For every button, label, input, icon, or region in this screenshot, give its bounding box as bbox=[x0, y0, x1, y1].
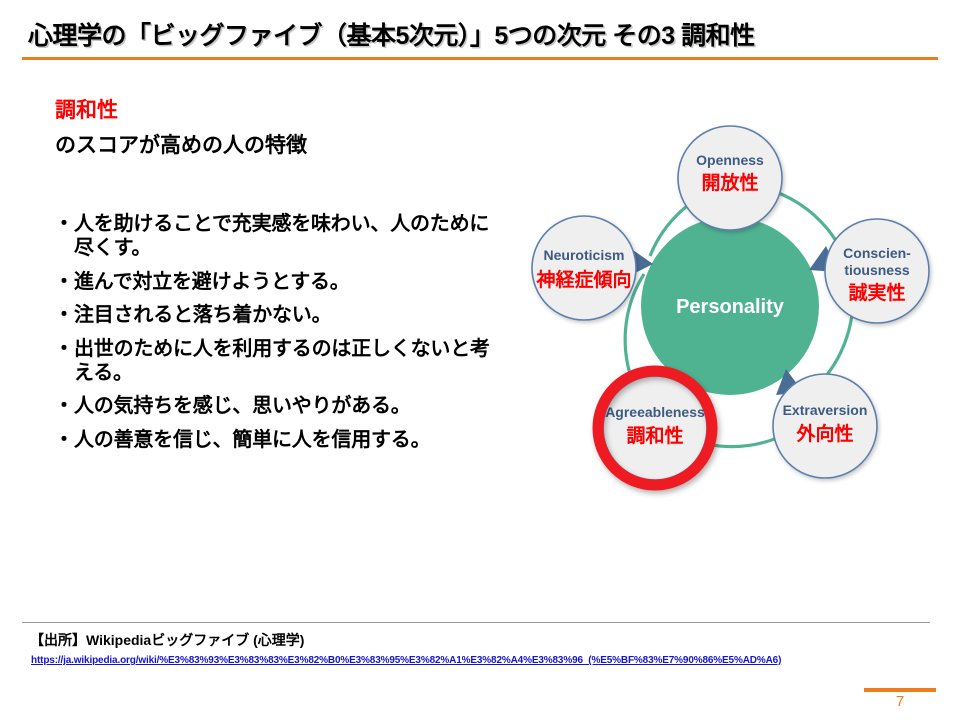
source-url-link[interactable]: https://ja.wikipedia.org/wiki/%E3%83%93%… bbox=[31, 655, 781, 666]
bullet-marker-icon: ・ bbox=[50, 337, 74, 361]
list-item-label: 注目されると落ち着かない。 bbox=[74, 303, 490, 327]
list-item: ・ 人の善意を信じ、簡単に人を信用する。 bbox=[50, 428, 490, 452]
node-extraversion[interactable]: Extraversion 外向性 bbox=[773, 374, 877, 478]
node-openness-jp: 開放性 bbox=[701, 171, 758, 194]
list-item-label: 人の気持ちを感じ、思いやりがある。 bbox=[74, 394, 490, 418]
bullet-marker-icon: ・ bbox=[50, 212, 74, 236]
footer-divider bbox=[22, 622, 930, 623]
node-agreeableness-jp: 調和性 bbox=[626, 424, 683, 447]
source-citation: 【出所】Wikipediaビッグファイブ (心理学) bbox=[30, 630, 304, 650]
list-item-label: 人の善意を信じ、簡単に人を信用する。 bbox=[74, 428, 490, 452]
list-item: ・ 進んで対立を避けようとする。 bbox=[50, 270, 490, 294]
page-number: 7 bbox=[864, 693, 936, 710]
node-conscientiousness-en: Conscien- bbox=[843, 245, 911, 261]
list-item: ・ 注目されると落ち着かない。 bbox=[50, 303, 490, 327]
list-item: ・ 人を助けることで充実感を味わい、人のために尽くす。 bbox=[50, 212, 490, 261]
node-extraversion-jp: 外向性 bbox=[795, 422, 853, 445]
list-item-label: 人を助けることで充実感を味わい、人のために尽くす。 bbox=[74, 212, 490, 261]
node-neuroticism-jp: 神経症傾向 bbox=[535, 268, 631, 291]
node-agreeableness-en: Agreeableness bbox=[605, 404, 705, 420]
node-extraversion-en: Extraversion bbox=[783, 402, 868, 418]
lead-block: 調和性 のスコアが高めの人の特徴 bbox=[55, 98, 475, 160]
node-neuroticism[interactable]: Neuroticism 神経症傾向 bbox=[532, 216, 636, 320]
center-label: Personality bbox=[676, 296, 785, 318]
big-five-diagram: Openness 開放性 Conscien- tiousness 誠実性 Ext… bbox=[498, 78, 960, 518]
characteristics-list: ・ 人を助けることで充実感を味わい、人のために尽くす。 ・ 進んで対立を避けよう… bbox=[50, 212, 490, 461]
bullet-marker-icon: ・ bbox=[50, 394, 74, 418]
page-title: 心理学の「ビッグファイブ（基本5次元）」5つの次元 その3 調和性 bbox=[28, 16, 928, 52]
list-item: ・ 出世のために人を利用するのは正しくないと考える。 bbox=[50, 337, 490, 386]
list-item-label: 進んで対立を避けようとする。 bbox=[74, 270, 490, 294]
node-openness-en: Openness bbox=[696, 152, 764, 168]
node-conscientiousness-jp: 誠実性 bbox=[848, 281, 905, 304]
node-conscientiousness[interactable]: Conscien- tiousness 誠実性 bbox=[825, 219, 929, 323]
slide-canvas: 心理学の「ビッグファイブ（基本5次元）」5つの次元 その3 調和性 調和性 のス… bbox=[0, 0, 960, 720]
node-openness[interactable]: Openness 開放性 bbox=[678, 126, 782, 230]
bullet-marker-icon: ・ bbox=[50, 303, 74, 327]
lead-trait-name: 調和性 bbox=[55, 98, 475, 124]
bullet-marker-icon: ・ bbox=[50, 428, 74, 452]
page-number-bar bbox=[864, 688, 936, 692]
lead-subtitle: のスコアが高めの人の特徴 bbox=[55, 133, 475, 159]
node-conscientiousness-en2: tiousness bbox=[844, 262, 910, 278]
list-item-label: 出世のために人を利用するのは正しくないと考える。 bbox=[74, 337, 490, 386]
node-agreeableness[interactable]: Agreeableness 調和性 bbox=[603, 376, 707, 480]
bullet-marker-icon: ・ bbox=[50, 270, 74, 294]
node-neuroticism-en: Neuroticism bbox=[544, 247, 625, 263]
title-underline-rule bbox=[22, 57, 938, 60]
list-item: ・ 人の気持ちを感じ、思いやりがある。 bbox=[50, 394, 490, 418]
